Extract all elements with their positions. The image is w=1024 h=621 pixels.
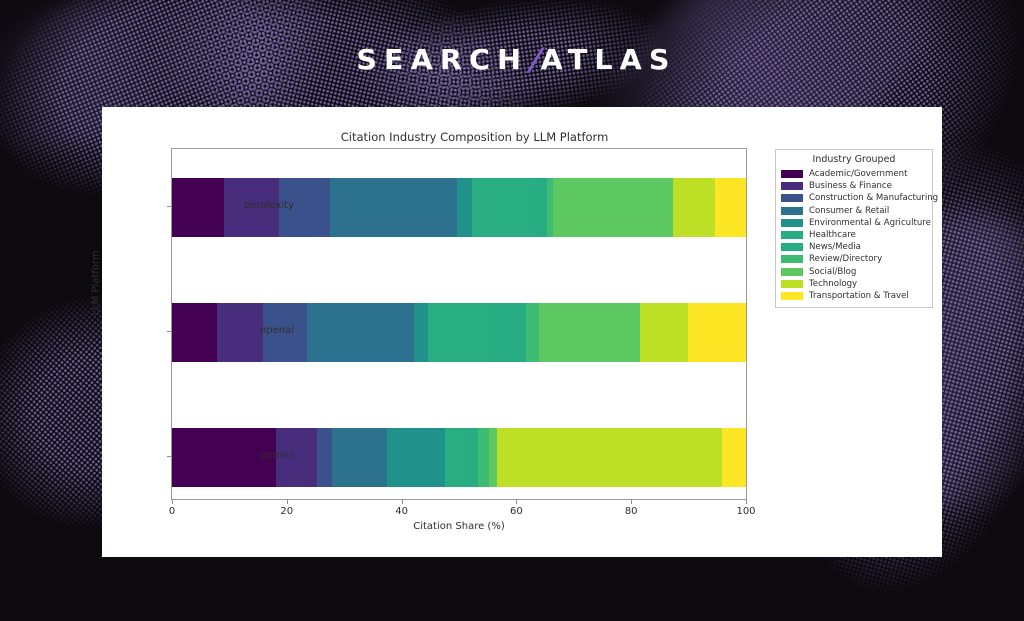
legend-swatch-icon [781,268,803,276]
stacked-bar-gemini[interactable] [172,428,746,487]
bar-row [172,303,746,362]
x-tick-mark [631,500,632,504]
legend: Industry Grouped Academic/GovernmentBusi… [775,149,933,308]
bar-segment[interactable] [317,428,332,487]
legend-item[interactable]: Academic/Government [781,168,927,180]
y-tick-mark [167,331,171,332]
x-tick-label: 40 [395,506,408,517]
bar-segment[interactable] [526,303,540,362]
x-tick-label: 100 [736,506,755,517]
legend-swatch-icon [781,255,803,263]
legend-item[interactable]: Environmental & Agriculture [781,217,927,229]
legend-swatch-icon [781,170,803,178]
legend-item[interactable]: Construction & Manufacturing [781,192,927,204]
x-tick-label: 60 [510,506,523,517]
searchatlas-logo: SEARCH/ATLAS [352,40,682,80]
bar-segment[interactable] [414,303,428,362]
y-tick-mark [167,456,171,457]
legend-label: Consumer & Retail [809,206,889,216]
bar-segment[interactable] [465,428,478,487]
bar-segment[interactable] [172,303,217,362]
bar-segment[interactable] [332,428,388,487]
y-tick-mark [167,206,171,207]
x-tick-mark [402,500,403,504]
bar-segment[interactable] [217,303,263,362]
legend-item[interactable]: Technology [781,278,927,290]
x-tick-mark [287,500,288,504]
bar-segment[interactable] [715,178,746,237]
legend-swatch-icon [781,292,803,300]
bar-segment[interactable] [472,178,533,237]
y-tick-label-perplexity: perplexity [244,200,294,211]
y-axis-label: LLM Platform [91,250,102,315]
figure: Citation Industry Composition by LLM Pla… [102,107,942,557]
chart-title: Citation Industry Composition by LLM Pla… [102,130,847,144]
legend-item[interactable]: Healthcare [781,229,927,241]
legend-label: Environmental & Agriculture [809,218,931,228]
bar-segment[interactable] [497,428,721,487]
x-tick-mark [516,500,517,504]
bar-segment[interactable] [387,428,445,487]
bar-segment[interactable] [489,428,497,487]
legend-swatch-icon [781,182,803,190]
legend-label: Construction & Manufacturing [809,193,938,203]
legend-item[interactable]: Business & Finance [781,180,927,192]
legend-item[interactable]: News/Media [781,241,927,253]
legend-label: Academic/Government [809,169,907,179]
chart-card: Citation Industry Composition by LLM Pla… [102,107,942,557]
bar-segment[interactable] [428,303,488,362]
bar-segment[interactable] [445,428,465,487]
bar-segment[interactable] [488,303,526,362]
bar-segment[interactable] [722,428,746,487]
legend-label: Social/Blog [809,267,856,277]
logo-text-atlas: ATLAS [541,46,677,74]
legend-label: Technology [809,279,857,289]
legend-swatch-icon [781,207,803,215]
legend-label: Business & Finance [809,181,892,191]
legend-swatch-icon [781,219,803,227]
stacked-bar-openai[interactable] [172,303,746,362]
bar-segment[interactable] [640,303,688,362]
logo-text-search: SEARCH [357,46,529,74]
y-tick-label-gemini: gemini [260,450,294,461]
legend-item[interactable]: Social/Blog [781,266,927,278]
bar-segment[interactable] [688,303,746,362]
legend-swatch-icon [781,194,803,202]
legend-title: Industry Grouped [781,154,927,165]
legend-item[interactable]: Consumer & Retail [781,205,927,217]
legend-swatch-icon [781,231,803,239]
x-tick-label: 20 [280,506,293,517]
legend-item[interactable]: Transportation & Travel [781,290,927,302]
x-axis-label: Citation Share (%) [171,521,747,532]
x-tick-label: 80 [625,506,638,517]
bar-segment[interactable] [307,303,414,362]
legend-swatch-icon [781,243,803,251]
bar-row [172,428,746,487]
bar-segment[interactable] [539,303,640,362]
x-tick-label: 0 [169,506,175,517]
legend-label: Review/Directory [809,254,882,264]
x-tick-mark [172,500,173,504]
bar-segment[interactable] [478,428,489,487]
bar-segment[interactable] [172,178,224,237]
legend-items: Academic/GovernmentBusiness & FinanceCon… [781,168,927,302]
bar-segment[interactable] [533,178,547,237]
legend-label: News/Media [809,242,861,252]
bar-segment[interactable] [553,178,674,237]
x-tick-mark [746,500,747,504]
bar-segment[interactable] [673,178,715,237]
legend-label: Healthcare [809,230,856,240]
legend-swatch-icon [781,280,803,288]
legend-item[interactable]: Review/Directory [781,253,927,265]
legend-label: Transportation & Travel [809,291,909,301]
bar-segment[interactable] [330,178,457,237]
y-tick-label-openai: openai [260,325,294,336]
bar-segment[interactable] [457,178,472,237]
